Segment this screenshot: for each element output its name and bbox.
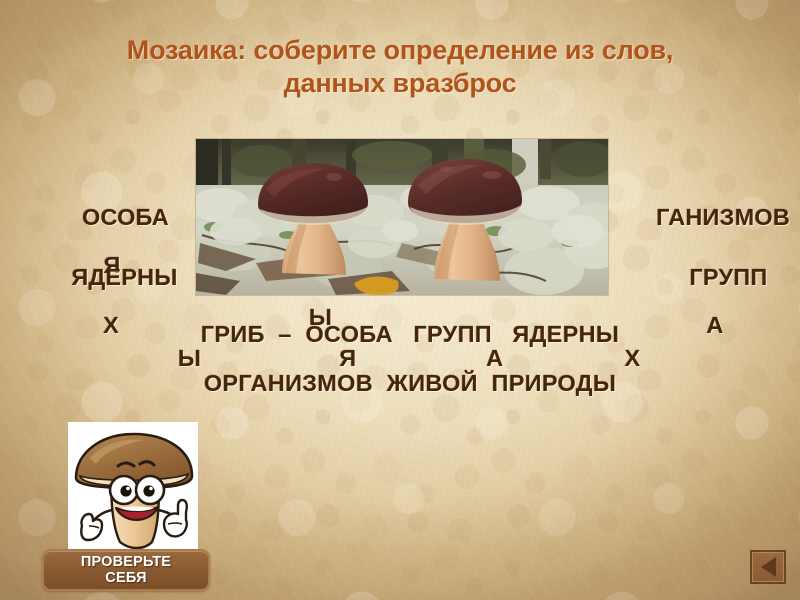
photo-artwork: [196, 139, 608, 295]
title-line-1: Мозаика: соберите определение из слов,: [127, 35, 673, 65]
title-line-2: данных вразброс: [284, 68, 517, 98]
answer-line-2-wrapped-letters: Ы Я А Х: [60, 346, 760, 370]
word-fragment-primary: ОСОБА: [82, 204, 169, 230]
check-yourself-label: ПРОВЕРЬТЕ СЕБЯ: [81, 554, 171, 586]
cartoon-mushroom-thumbs-up: [68, 422, 198, 554]
word-fragment-primary: ЯДЕРНЫ: [71, 264, 177, 290]
word-fragment-primary: ГРУПП: [689, 264, 767, 290]
slide-canvas: Мозаика: соберите определение из слов, д…: [0, 0, 800, 600]
back-button[interactable]: [750, 550, 786, 584]
page-title: Мозаика: соберите определение из слов, д…: [40, 34, 760, 100]
check-yourself-button[interactable]: ПРОВЕРЬТЕ СЕБЯ: [42, 549, 210, 591]
word-fragment-primary: ГАНИЗМОВ: [656, 204, 790, 230]
porcini-mushrooms-photo: [196, 139, 608, 295]
answer-line-1: ГРИБ – ОСОБА ГРУПП ЯДЕРНЫ: [60, 322, 760, 346]
triangle-left-icon: [761, 557, 776, 577]
answer-sentence: ГРИБ – ОСОБА ГРУПП ЯДЕРНЫ Ы Я А Х ОРГАНИ…: [60, 322, 760, 395]
mascot-artwork: [68, 422, 198, 554]
answer-line-3: ОРГАНИЗМОВ ЖИВОЙ ПРИРОДЫ: [60, 371, 760, 395]
